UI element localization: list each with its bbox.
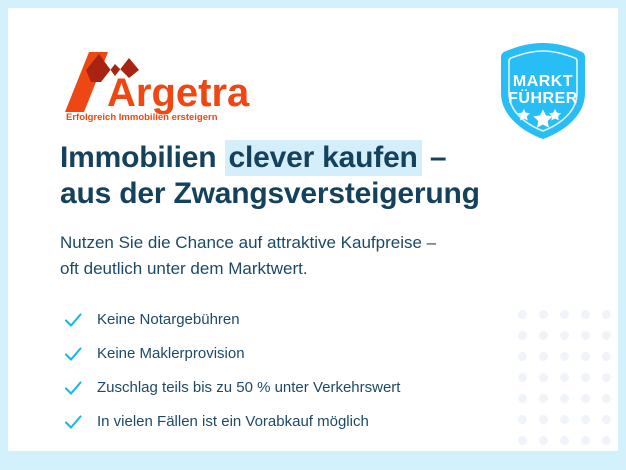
subheadline: Nutzen Sie die Chance auf attraktive Kau…	[60, 230, 560, 282]
dot	[539, 373, 548, 382]
dot	[539, 394, 548, 403]
dot	[560, 352, 569, 361]
benefit-label: In vielen Fällen ist ein Vorabkauf mögli…	[97, 412, 369, 432]
dot	[518, 373, 527, 382]
check-icon	[63, 344, 83, 364]
dot	[539, 415, 548, 424]
market-leader-badge: MARKT FÜHRER	[495, 41, 591, 141]
dot	[602, 436, 611, 445]
promo-banner: Argetra Erfolgreich Immobilien ersteiger…	[0, 0, 626, 470]
dot	[539, 352, 548, 361]
benefit-label: Zuschlag teils bis zu 50 % unter Verkehr…	[97, 378, 400, 398]
dot	[560, 373, 569, 382]
dot	[581, 436, 590, 445]
check-icon	[63, 310, 83, 330]
dot	[602, 352, 611, 361]
decorative-dot-grid	[518, 310, 618, 451]
benefits-list: Keine Notargebühren Keine Maklerprovisio…	[63, 304, 400, 440]
dot	[539, 331, 548, 340]
dot	[581, 415, 590, 424]
subheadline-line-2: oft deutlich unter dem Marktwert.	[60, 256, 560, 282]
subheadline-line-1: Nutzen Sie die Chance auf attraktive Kau…	[60, 230, 560, 256]
headline: Immobilien clever kaufen – aus der Zwang…	[60, 140, 560, 212]
dot	[539, 310, 548, 319]
dot	[518, 352, 527, 361]
list-item: Keine Maklerprovision	[63, 338, 400, 369]
badge-line-2: FÜHRER	[508, 88, 578, 107]
dot	[581, 352, 590, 361]
check-icon	[63, 412, 83, 432]
benefit-label: Keine Maklerprovision	[97, 344, 245, 364]
benefit-label: Keine Notargebühren	[97, 310, 240, 330]
argetra-logo: Argetra Erfolgreich Immobilien ersteiger…	[63, 50, 263, 122]
badge-line-1: MARKT	[513, 73, 573, 90]
dot	[602, 415, 611, 424]
headline-part-1: Immobilien	[60, 141, 225, 174]
headline-part-2: –	[422, 141, 447, 174]
dot	[602, 373, 611, 382]
dot	[602, 331, 611, 340]
list-item: Keine Notargebühren	[63, 304, 400, 335]
dot	[581, 331, 590, 340]
dot	[518, 436, 527, 445]
dot	[581, 310, 590, 319]
dot	[560, 415, 569, 424]
dot	[518, 331, 527, 340]
dot	[581, 373, 590, 382]
dot	[560, 310, 569, 319]
dot	[518, 394, 527, 403]
dot	[560, 331, 569, 340]
dot	[581, 394, 590, 403]
banner-card: Argetra Erfolgreich Immobilien ersteiger…	[8, 8, 618, 451]
headline-highlight: clever kaufen	[225, 140, 422, 176]
headline-line-2: aus der Zwangsversteigerung	[60, 176, 560, 212]
dot	[518, 310, 527, 319]
dot	[518, 415, 527, 424]
logo-wordmark: Argetra	[107, 71, 250, 115]
dot	[602, 310, 611, 319]
list-item: In vielen Fällen ist ein Vorabkauf mögli…	[63, 406, 400, 437]
dot	[560, 436, 569, 445]
logo-tagline: Erfolgreich Immobilien ersteigern	[66, 112, 218, 122]
list-item: Zuschlag teils bis zu 50 % unter Verkehr…	[63, 372, 400, 403]
check-icon	[63, 378, 83, 398]
dot	[560, 394, 569, 403]
dot	[602, 394, 611, 403]
dot	[539, 436, 548, 445]
